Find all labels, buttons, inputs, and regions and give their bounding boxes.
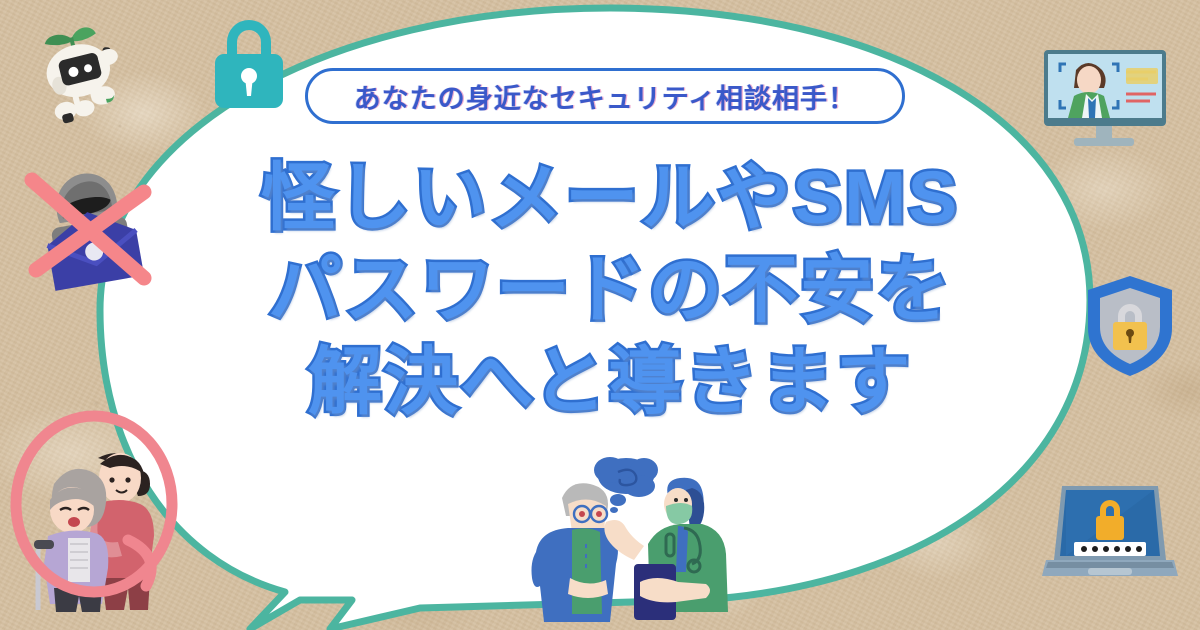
headline-line-2: パスワードの不安を (160, 244, 1060, 336)
headline: 怪しいメールやSMS パスワードの不安を 解決へと導きます (160, 152, 1060, 428)
tagline-badge-text: あなたの身近なセキュリティ相談相手！ (354, 77, 856, 116)
security-shield-lock-icon (1082, 272, 1178, 380)
phishing-scammer-crossed-out-icon (14, 152, 164, 292)
banner-canvas: あなたの身近なセキュリティ相談相手！ 怪しいメールやSMS パスワードの不安を … (0, 0, 1200, 630)
sprout-robot-icon (26, 14, 136, 124)
headline-line-3: 解決へと導きます (160, 336, 1060, 428)
laptop-password-icon (1040, 480, 1180, 590)
id-verification-monitor-icon (1030, 36, 1180, 156)
headline-line-1-wrap: 怪しいメールやSMS (160, 152, 1060, 244)
padlock-icon (207, 12, 291, 112)
tagline-badge: あなたの身近なセキュリティ相談相手！ (305, 68, 905, 124)
senior-and-staff-consultation-illustration (506, 448, 756, 630)
elderly-support-circled-icon (10, 392, 190, 612)
headline-line-2-wrap: パスワードの不安を (160, 244, 1060, 336)
headline-line-1: 怪しいメールやSMS (160, 152, 1060, 244)
headline-line-3-wrap: 解決へと導きます (160, 336, 1060, 428)
